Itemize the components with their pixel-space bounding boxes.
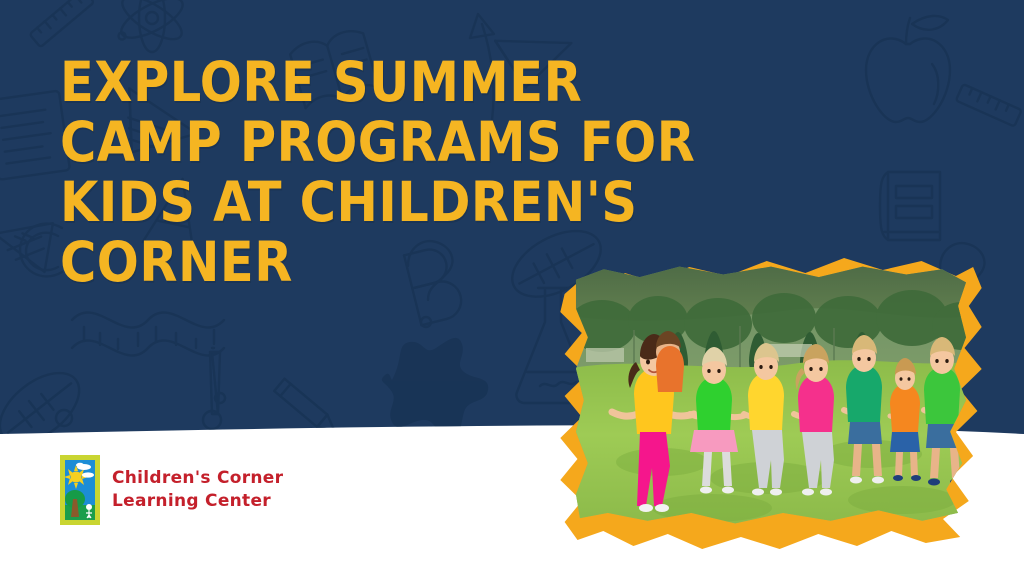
- ruler-doodle: [30, 0, 95, 47]
- photo-image: [572, 264, 970, 526]
- letter-o-doodle: [56, 410, 221, 429]
- football-doodle: [0, 359, 92, 440]
- ruler-doodle-2: [956, 84, 1022, 126]
- logo-text: Children's Corner Learning Center: [112, 467, 283, 513]
- book-doodle: [880, 172, 940, 240]
- logo-mark-icon: [60, 455, 100, 525]
- dna-doodle: [72, 312, 224, 355]
- apple-doodle: [866, 16, 950, 122]
- hero-photo: [556, 252, 986, 552]
- promo-banner: Explore Summer Camp Programs for Kids at…: [0, 0, 1024, 576]
- children-running-illustration: [572, 264, 970, 526]
- logo[interactable]: Children's Corner Learning Center: [60, 455, 283, 525]
- atom-doodle: [116, 0, 188, 52]
- exclamation-mark-doodle: [210, 352, 225, 414]
- ink-splat-doodle: [382, 338, 488, 436]
- pencil-doodle: [274, 379, 339, 438]
